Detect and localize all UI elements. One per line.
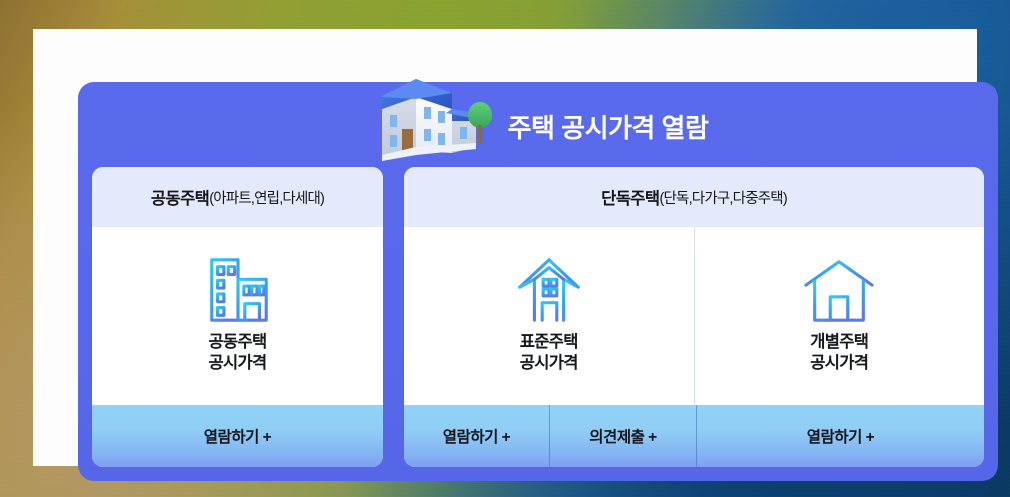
page-container: 주택 공시가격 열람 공동주택(아파트,연립,다세대) [33, 29, 977, 466]
item-label: 개별주택 공시가격 [810, 332, 868, 374]
item-individual-house-price[interactable]: 개별주택 공시가격 [694, 227, 985, 405]
page-title: 주택 공시가격 열람 [508, 108, 709, 145]
apartment-building-icon [199, 254, 277, 326]
card-body-detached-housing: 표준주택 공시가격 [404, 227, 984, 405]
card-header-joint-housing: 공동주택(아파트,연립,다세대) [92, 167, 383, 227]
card-joint-housing: 공동주택(아파트,연립,다세대) [92, 167, 383, 467]
card-body-joint-housing: 공동주택 공시가격 [92, 227, 383, 405]
panel-header: 주택 공시가격 열람 [78, 82, 998, 167]
housing-price-panel: 주택 공시가격 열람 공동주택(아파트,연립,다세대) [78, 82, 998, 481]
card-title-strong: 공동주택 [151, 185, 209, 209]
item-label: 공동주택 공시가격 [209, 332, 267, 374]
item-standard-house-price[interactable]: 표준주택 공시가격 [404, 227, 694, 405]
standard-house-icon [510, 254, 588, 326]
item-label: 표준주택 공시가격 [520, 332, 578, 374]
item-joint-housing-price[interactable]: 공동주택 공시가격 [92, 227, 383, 405]
view-button-joint-housing[interactable]: 열람하기 + [92, 405, 383, 467]
card-detached-housing: 단독주택(단독,다가구,다중주택) [404, 167, 984, 467]
individual-house-icon [800, 254, 878, 326]
card-title-sub: (단독,다가구,다중주택) [659, 187, 786, 208]
view-button-standard-house[interactable]: 열람하기 + [404, 405, 549, 467]
submit-opinion-button-standard-house[interactable]: 의견제출 + [549, 405, 696, 467]
house-illustration-icon [368, 63, 492, 165]
view-button-individual-house[interactable]: 열람하기 + [696, 405, 984, 467]
card-title-strong: 단독주택 [601, 185, 659, 209]
card-footer-detached-housing: 열람하기 + 의견제출 + 열람하기 + [404, 405, 984, 467]
card-header-detached-housing: 단독주택(단독,다가구,다중주택) [404, 167, 984, 227]
cards-row: 공동주택(아파트,연립,다세대) [92, 167, 984, 467]
card-title-sub: (아파트,연립,다세대) [209, 187, 324, 208]
card-footer-joint-housing: 열람하기 + [92, 405, 383, 467]
